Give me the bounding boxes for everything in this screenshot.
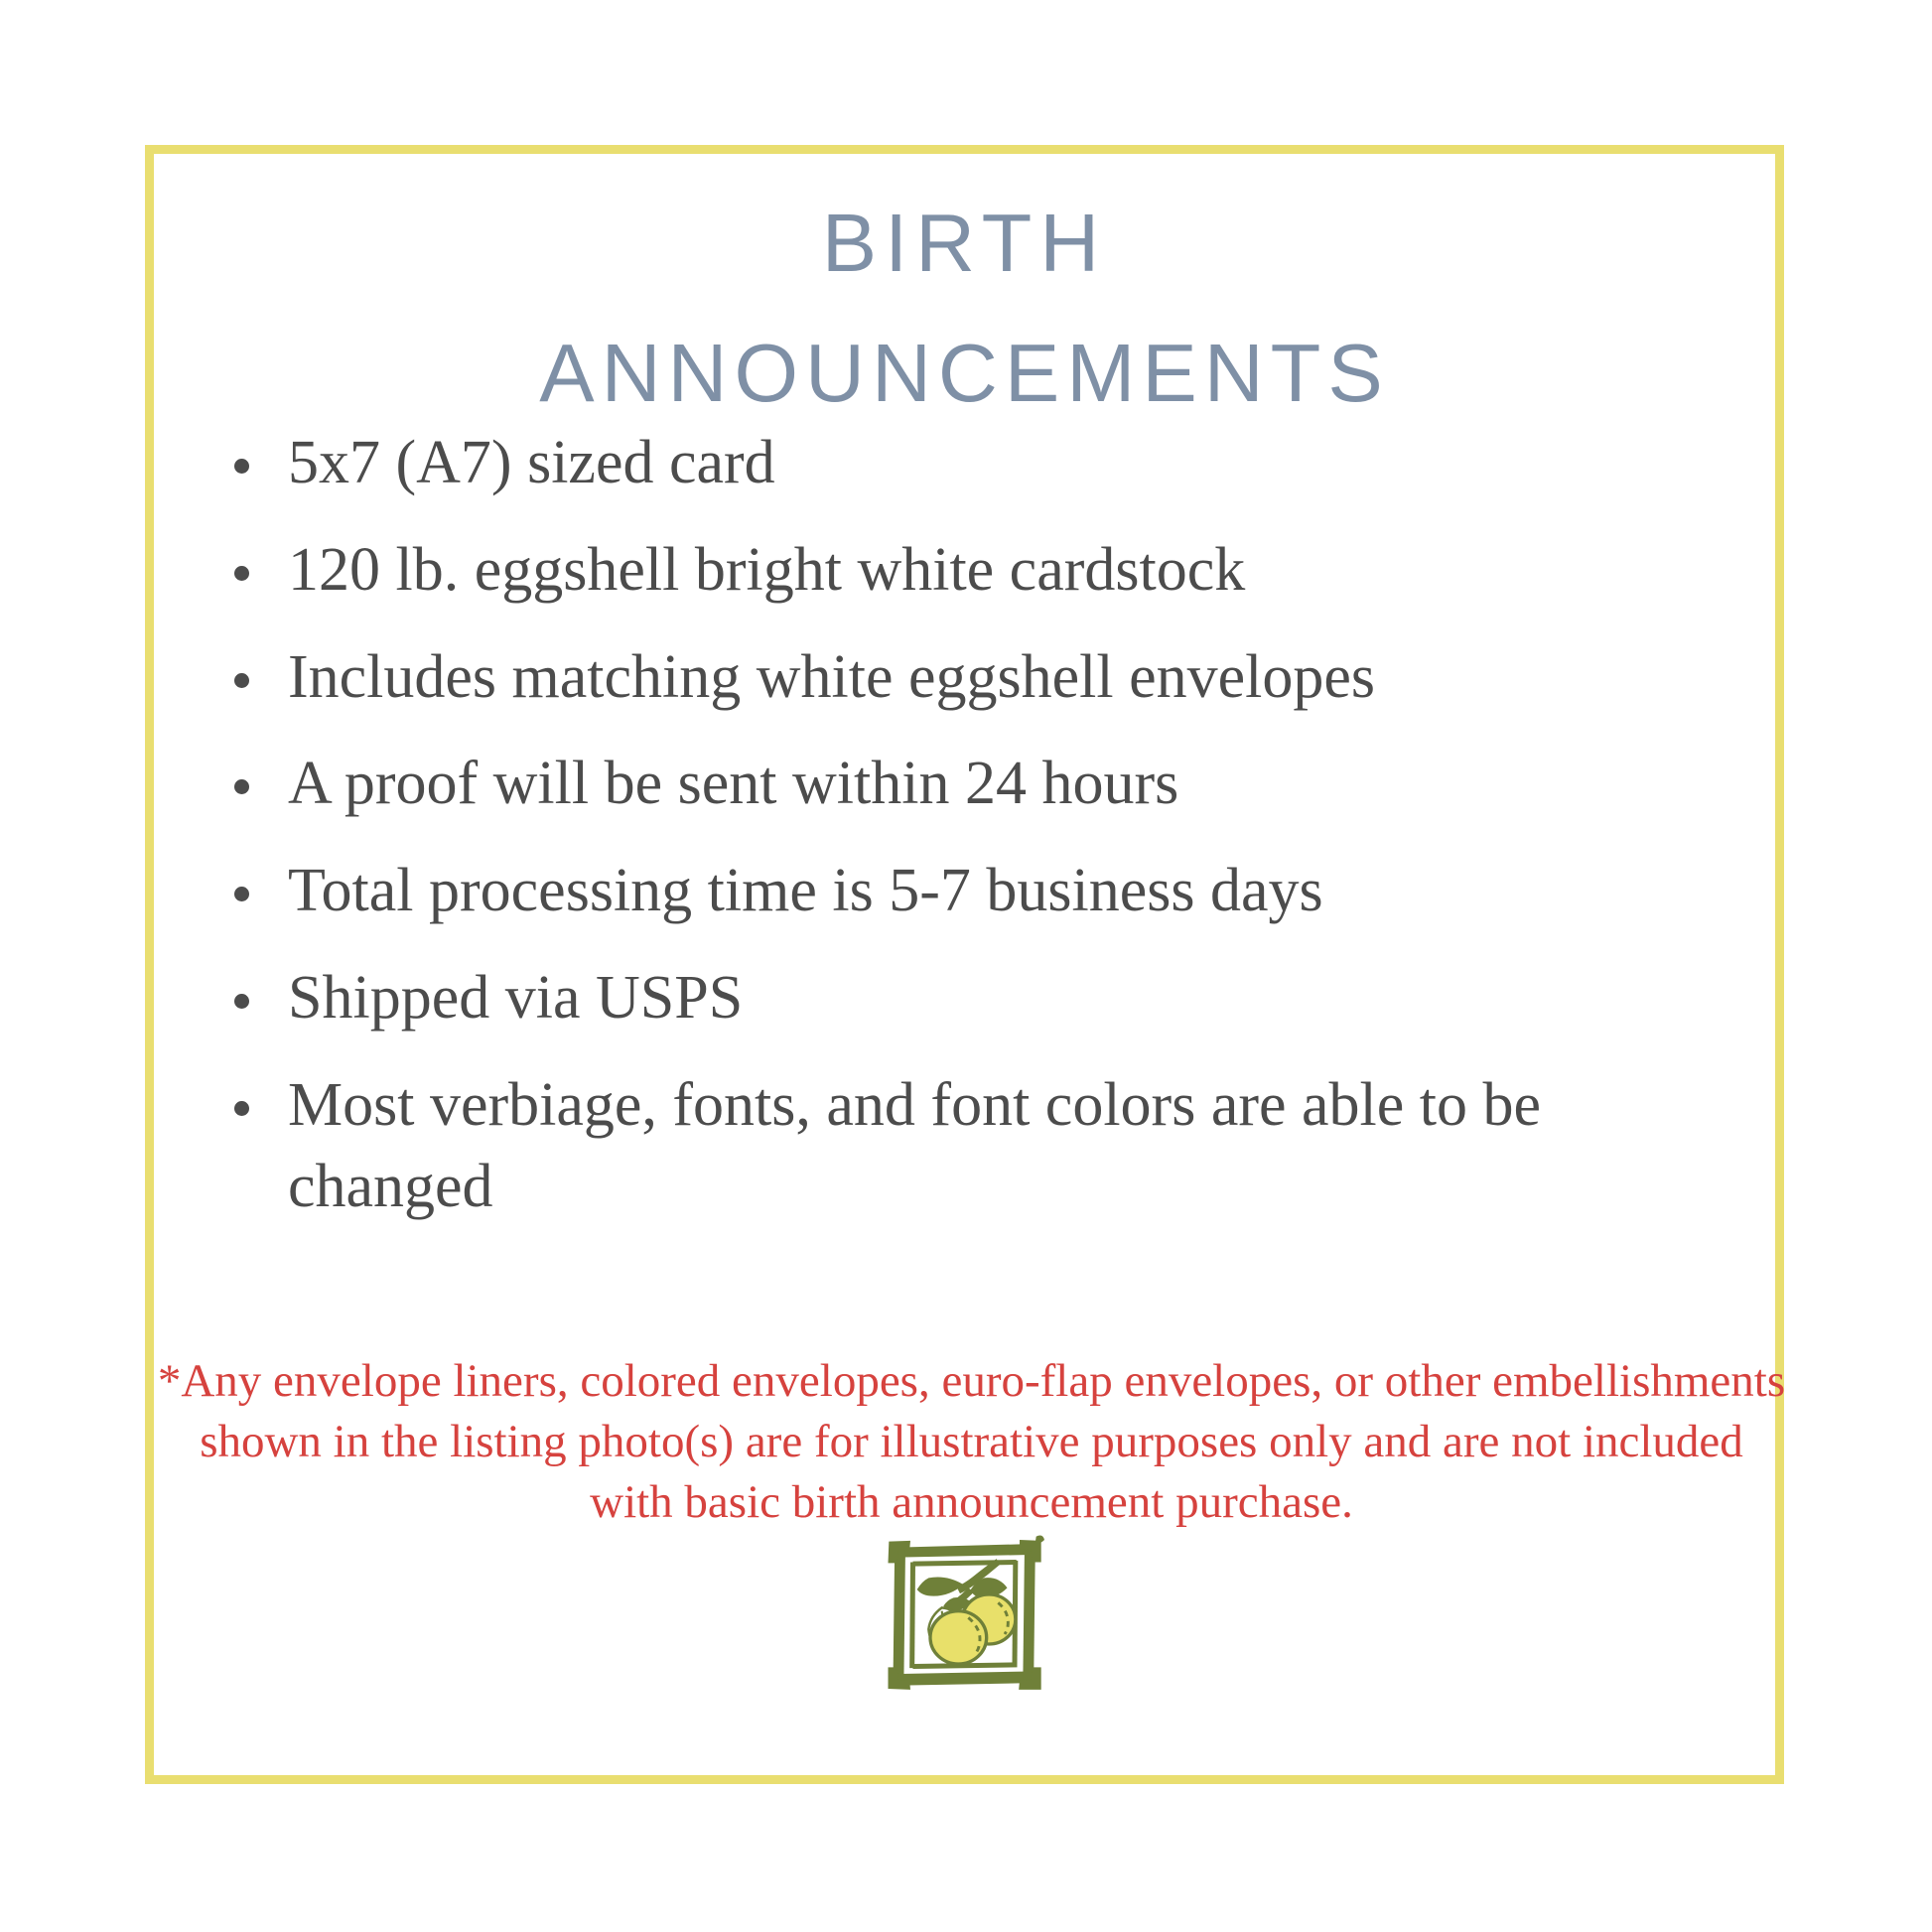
lemon-branch-framed-logo-icon [882,1535,1048,1704]
list-item-label: Most verbiage, fonts, and font colors ar… [288,1071,1541,1220]
list-item: Total processing time is 5-7 business da… [228,851,1718,932]
list-item: Most verbiage, fonts, and font colors ar… [228,1065,1718,1228]
page-title: Birth Announcements [145,171,1784,422]
list-item-label: 120 lb. eggshell bright white cardstock [288,536,1245,604]
list-item: Includes matching white eggshell envelop… [228,637,1718,719]
list-item-label: 5x7 (A7) sized card [288,429,775,496]
list-item-label: Includes matching white eggshell envelop… [288,643,1375,711]
card-content: Birth Announcements 5x7 (A7) sized card … [145,145,1784,1784]
logo-container [145,1535,1784,1709]
list-item: 120 lb. eggshell bright white cardstock [228,530,1718,612]
announcement-card: Birth Announcements 5x7 (A7) sized card … [0,0,1932,1932]
list-item-label: Total processing time is 5-7 business da… [288,857,1323,924]
page-title-line-2: Announcements [145,301,1784,423]
disclaimer-text: *Any envelope liners, colored envelopes,… [155,1351,1788,1533]
list-item-label: A proof will be sent within 24 hours [288,750,1178,817]
list-item: Shipped via USPS [228,958,1718,1039]
list-item: 5x7 (A7) sized card [228,423,1718,504]
product-details-list: 5x7 (A7) sized card 120 lb. eggshell bri… [228,423,1718,1254]
page-title-line-1: Birth [145,171,1784,293]
list-item-label: Shipped via USPS [288,964,743,1032]
list-item: A proof will be sent within 24 hours [228,744,1718,825]
